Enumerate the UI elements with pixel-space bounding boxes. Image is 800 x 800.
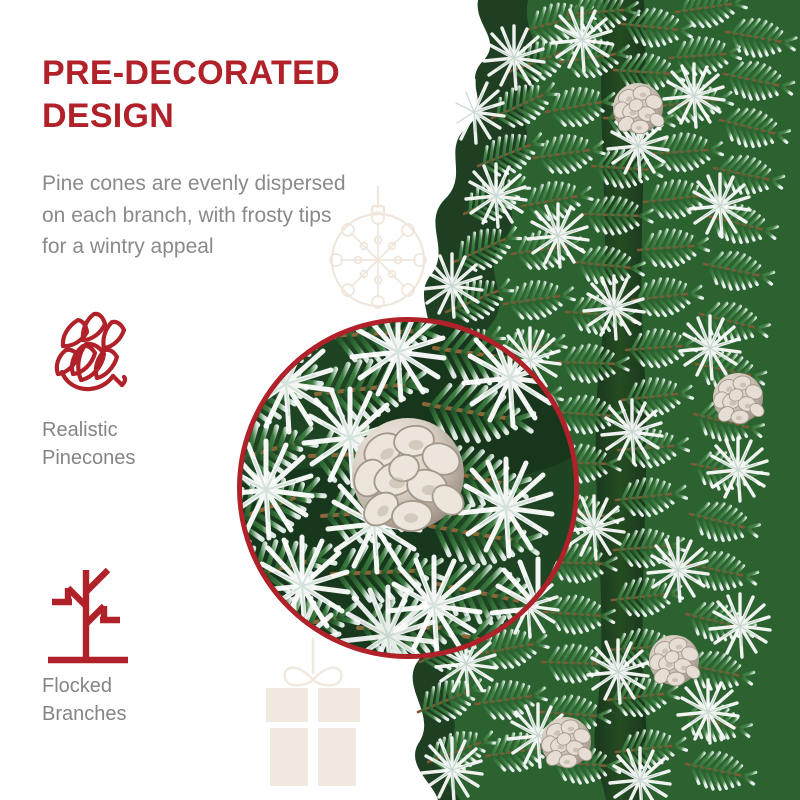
branch-icon: [42, 562, 232, 658]
feature-label: Flocked Branches: [42, 672, 232, 729]
feature-label: Realistic Pinecones: [42, 416, 232, 473]
gift-box-icon: [252, 638, 374, 790]
magnified-detail-circle: [237, 317, 579, 659]
pinecone-icon: [42, 306, 232, 402]
page-title: Pre-Decorated Design: [42, 52, 442, 138]
page-subtitle: Pine cones are evenly dispersed on each …: [42, 168, 434, 263]
product-feature-graphic: Pre-Decorated Design Pine cones are even…: [0, 0, 800, 800]
feature-realistic-pinecones: Realistic Pinecones: [42, 306, 232, 473]
feature-flocked-branches: Flocked Branches: [42, 562, 232, 729]
